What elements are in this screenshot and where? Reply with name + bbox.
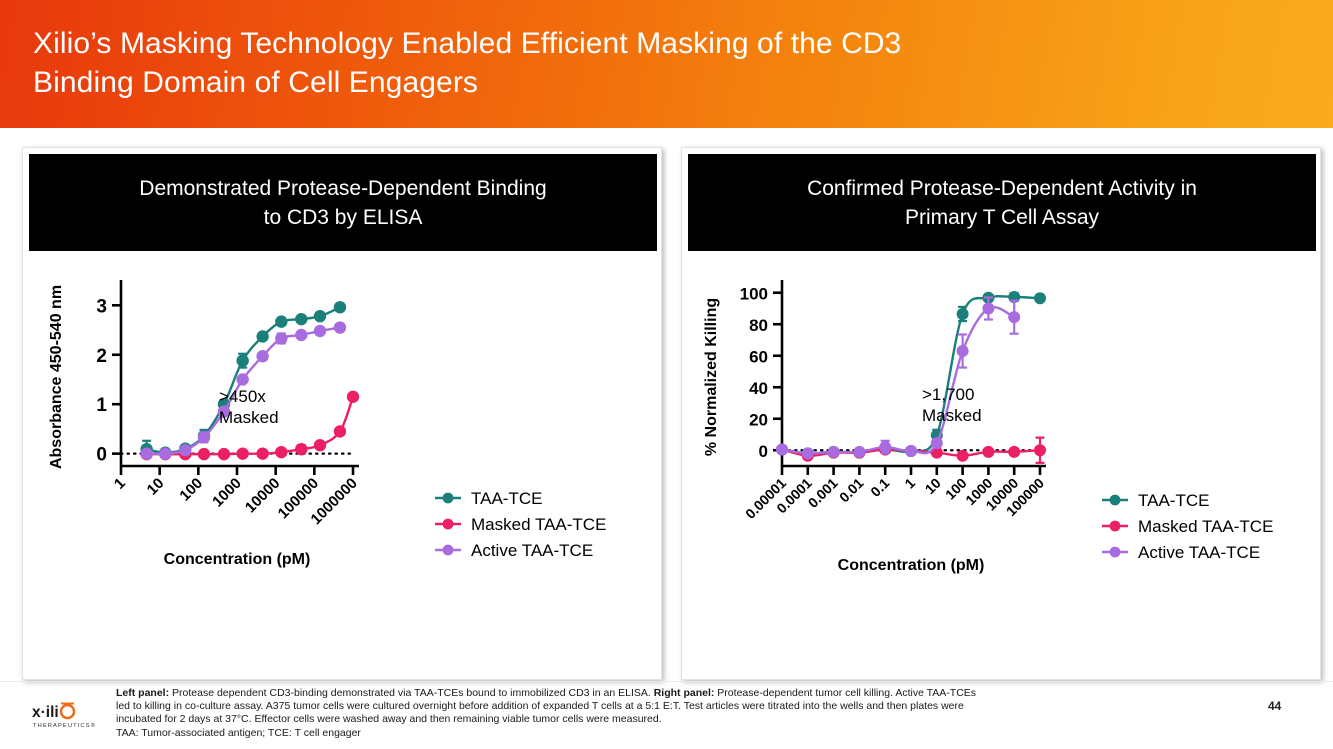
footnote-line-4: TAA: Tumor-associated antigen; TCE: T ce… [116,727,1246,740]
annotation-line: >1,700 [922,385,974,404]
data-point [275,332,287,344]
chart-legend: TAA-TCEMasked TAA-TCEActive TAA-TCE [435,489,606,560]
legend-marker [443,545,454,556]
x-tick-label: 0.001 [805,475,841,511]
y-tick-label: 3 [96,296,107,317]
y-tick-label: 0 [96,445,107,466]
footnote-line-3: incubated for 2 days at 37°C. Effector c… [116,713,1246,726]
y-axis-title: % Normalized Killing [703,298,720,456]
data-point [236,354,248,366]
data-point [853,446,865,458]
data-point [1008,446,1020,458]
footnote-left-panel-text: Protease dependent CD3-binding demonstra… [169,687,654,699]
x-axis-title: Concentration (pM) [838,557,985,574]
data-point [905,445,917,457]
x-tick-label: 10 [922,475,944,497]
legend-marker [443,519,454,530]
y-tick-label: 60 [749,348,768,367]
chart-legend: TAA-TCEMasked TAA-TCEActive TAA-TCE [1102,491,1273,562]
legend-label: Masked TAA-TCE [471,515,606,534]
data-point [957,345,969,357]
annotation-line: Masked [219,408,279,427]
fit-curve [782,296,1040,453]
data-point [1008,311,1020,323]
x-tick-label: 1 [111,475,129,493]
data-point [931,437,943,449]
chart-annotation: >1,700Masked [922,385,982,425]
logo-tagline: THERAPEUTICS® [33,722,96,729]
x-axis-title: Concentration (pM) [164,551,311,568]
data-point [140,447,152,459]
data-point [347,391,359,403]
data-point [957,308,969,320]
data-point [198,431,210,443]
footnote-right-panel-text: Protease-dependent tumor cell killing. A… [714,687,976,699]
panel-elisa-binding: Demonstrated Protease-Dependent Binding … [22,147,662,680]
data-point [957,450,969,462]
x-tick-label: 1000 [209,475,245,511]
series-active-taa-tce [776,297,1020,459]
x-tick-label: 0.1 [867,475,892,500]
y-axis-title: Absorbance 450-540 nm [48,285,65,469]
legend-marker [1110,547,1121,558]
annotation-line: Masked [922,406,982,425]
data-point [1034,444,1046,456]
legend-label: Masked TAA-TCE [1138,517,1273,536]
fit-curve [782,307,1014,453]
data-point [236,447,248,459]
legend-marker [443,493,454,504]
title-banner: Xilio’s Masking Technology Enabled Effic… [0,0,1333,128]
data-point [334,321,346,333]
data-point [314,325,326,337]
chart-elisa-binding: 01231101001000100001000001000000Concentr… [23,254,661,679]
logo-o-bar [61,703,74,705]
annotation-line: >450x [219,387,266,406]
chart-t-cell-killing: 0204060801000.000010.00010.0010.010.1110… [682,254,1320,679]
data-point [828,446,840,458]
legend-marker [1110,521,1121,532]
data-point [295,443,307,455]
data-point [275,446,287,458]
footnote-left-panel-label: Left panel: [116,687,169,699]
panel-header-right: Confirmed Protease-Dependent Activity in… [688,154,1316,251]
data-point [179,444,191,456]
data-point [236,373,248,385]
data-point [275,315,287,327]
y-tick-label: 20 [749,411,768,430]
legend-label: TAA-TCE [1138,491,1209,510]
data-point [159,447,171,459]
logo-o-ring [61,705,74,718]
x-tick-label: 1 [901,475,918,492]
footnote: Left panel: Protease dependent CD3-bindi… [116,687,1246,740]
chart-svg-left: 01231101001000100001000001000000Concentr… [23,254,661,679]
data-point [198,448,210,460]
chart-svg-right: 0204060801000.000010.00010.0010.010.1110… [682,254,1320,679]
data-point [802,447,814,459]
data-point [218,448,230,460]
y-tick-label: 100 [740,285,768,304]
y-tick-label: 40 [749,379,768,398]
data-point [776,443,788,455]
footnote-right-panel-label: Right panel: [654,687,715,699]
data-point [256,447,268,459]
data-point [334,425,346,437]
data-point [256,350,268,362]
data-point [295,329,307,341]
footnote-line-2: led to killing in co-culture assay. A375… [116,700,1246,713]
y-tick-label: 0 [759,442,768,461]
legend-label: TAA-TCE [471,489,542,508]
panel-header-left: Demonstrated Protease-Dependent Binding … [29,154,657,251]
y-tick-label: 1 [96,395,107,416]
xilio-logo: x·ili THERAPEUTICS® [30,697,110,737]
x-tick-label: 100 [176,475,206,505]
page-title: Xilio’s Masking Technology Enabled Effic… [33,24,1133,102]
data-point [314,439,326,451]
x-tick-label: 0.01 [836,475,867,506]
data-point [982,446,994,458]
data-point [982,302,994,314]
legend-marker [1110,495,1121,506]
x-tick-label: 10 [144,475,168,499]
footer-divider [0,681,1333,682]
data-point [314,310,326,322]
panel-t-cell-assay: Confirmed Protease-Dependent Activity in… [681,147,1321,680]
page-number: 44 [1268,699,1281,713]
legend-label: Active TAA-TCE [1138,543,1260,562]
logo-wordmark: x·ili [32,704,59,721]
data-point [879,441,891,453]
data-point [256,330,268,342]
series-taa-tce [776,291,1046,459]
footnote-line-1: Left panel: Protease dependent CD3-bindi… [116,687,976,699]
y-tick-label: 2 [96,346,107,367]
legend-label: Active TAA-TCE [471,541,593,560]
data-point [295,313,307,325]
data-point [1034,292,1046,304]
data-point [334,301,346,313]
y-tick-label: 80 [749,316,768,335]
